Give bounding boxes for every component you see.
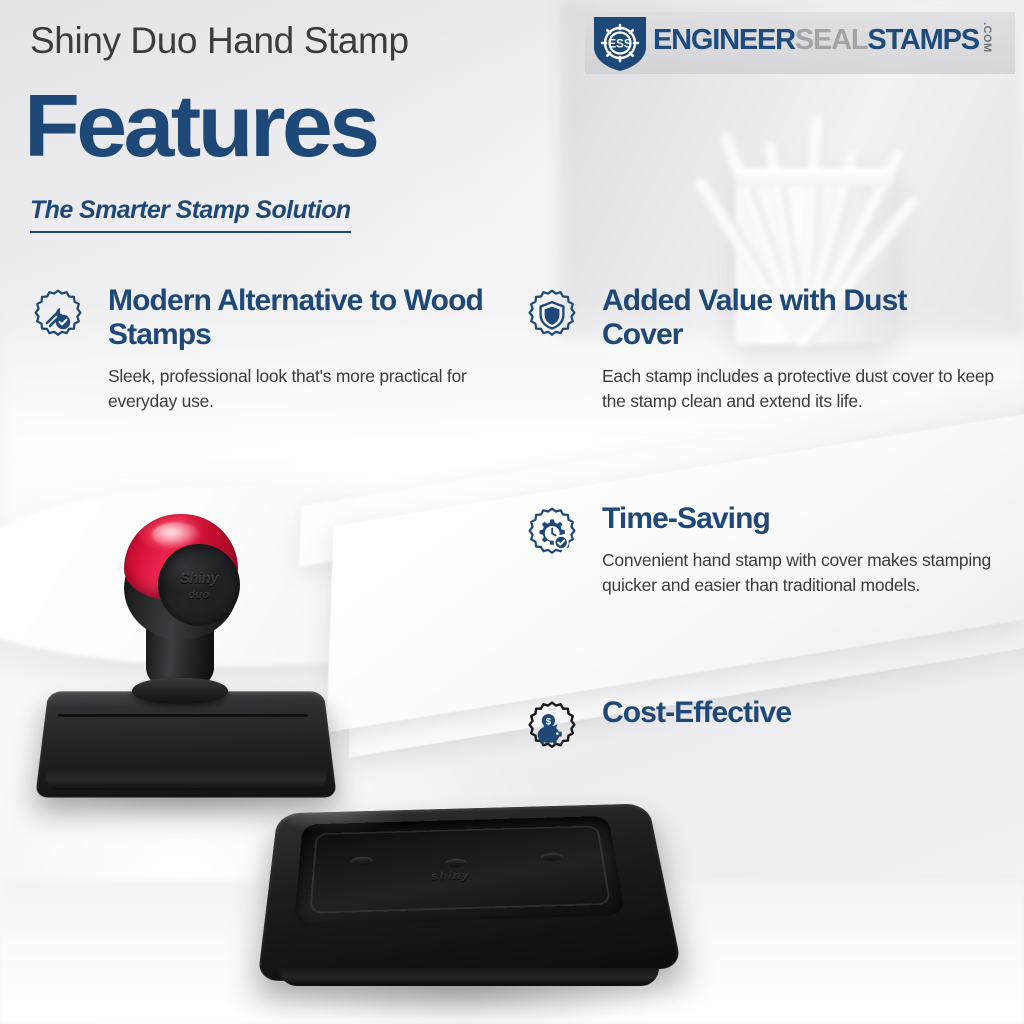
tagline: The Smarter Stamp Solution (30, 196, 351, 233)
logo-wordmark: ENGINEERSEALSTAMPS (653, 24, 979, 57)
dust-cover-sheen (285, 794, 405, 834)
dust-cover-emboss: shiny (431, 869, 470, 883)
feature-heading: Added Value with Dust Cover (602, 284, 994, 352)
feature-heading: Time-Saving (602, 502, 994, 536)
feature-body: Each stamp includes a protective dust co… (602, 364, 994, 414)
stamp-knob-emboss: Shiny duo (158, 544, 240, 626)
shield-badge-icon (524, 288, 580, 344)
piggy-bank-badge-icon: $ (524, 700, 580, 756)
product-photo-hand-stamp: Shiny duo (20, 500, 350, 830)
product-title: Shiny Duo Hand Stamp (30, 20, 409, 62)
product-photo-dust-cover: shiny (255, 782, 685, 1022)
ess-shield-gear-icon: ESS (591, 14, 649, 72)
header: Shiny Duo Hand Stamp (0, 0, 1024, 250)
logo-word-engineer: ENGINEER (653, 24, 795, 56)
feature-heading: Cost-Effective (602, 696, 791, 730)
stamp-collar (132, 678, 228, 704)
feature-text: Modern Alternative to Wood Stamps Sleek,… (108, 284, 500, 414)
feature-body: Convenient hand stamp with cover makes s… (602, 548, 994, 598)
gear-clock-check-badge-icon (524, 506, 580, 562)
logo-dotcom-suffix: .COM (981, 22, 993, 53)
feature-body: Sleek, professional look that's more pra… (108, 364, 500, 414)
feature-text: Added Value with Dust Cover Each stamp i… (602, 284, 994, 414)
stamp-base-groove (58, 714, 308, 717)
feature-text: Cost-Effective (602, 696, 791, 742)
page-title: Features (24, 82, 376, 170)
infographic-canvas: Shiny Duo Hand Stamp (0, 0, 1024, 1024)
feature-heading: Modern Alternative to Wood Stamps (108, 284, 500, 352)
brand-logo: ESS ENGINEERSEALSTAMPS .COM (585, 12, 1015, 74)
dust-cover-foot (279, 968, 659, 986)
svg-text:ESS: ESS (608, 38, 631, 50)
feature-text: Time-Saving Convenient hand stamp with c… (602, 502, 994, 598)
logo-word-stamps: STAMPS (867, 24, 979, 56)
stamp-knob-face: Shiny duo (158, 544, 240, 626)
stamp-emboss-brand: Shiny (180, 570, 218, 587)
tools-check-badge-icon (30, 288, 86, 344)
stamp-emboss-model: duo (188, 589, 209, 601)
logo-word-seal: SEAL (795, 24, 868, 56)
